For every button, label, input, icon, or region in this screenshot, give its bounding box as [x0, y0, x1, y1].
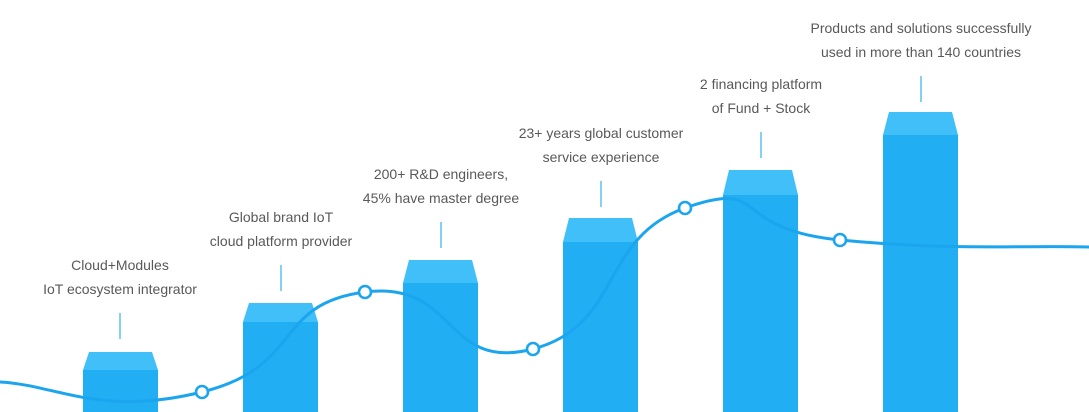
- trend-marker-5: [834, 234, 846, 246]
- bar-6: [883, 112, 958, 412]
- bar-top-face: [403, 260, 478, 283]
- bar-top-face: [723, 170, 798, 195]
- bar-top-face: [883, 112, 958, 135]
- bar-top-face: [243, 303, 318, 322]
- trend-marker-1: [196, 386, 208, 398]
- trend-marker-3: [527, 343, 539, 355]
- bar-front-face: [883, 135, 958, 412]
- bar-3: [403, 260, 478, 412]
- bar-2: [243, 303, 318, 412]
- bar-front-face: [243, 322, 318, 412]
- milestone-infographic: Cloud+ModulesIoT ecosystem integratorGlo…: [0, 0, 1089, 412]
- bar-top-face: [563, 218, 638, 242]
- label-ticks-group: [120, 76, 921, 339]
- trend-marker-4: [679, 202, 691, 214]
- bar-1: [83, 352, 158, 412]
- bars-group: [83, 112, 958, 412]
- bar-top-face: [83, 352, 158, 370]
- bar-front-face: [83, 370, 158, 412]
- bar-4: [563, 218, 638, 412]
- trend-marker-2: [359, 286, 371, 298]
- bar-5: [723, 170, 798, 412]
- milestone-chart: [0, 0, 1089, 412]
- bar-front-face: [403, 283, 478, 412]
